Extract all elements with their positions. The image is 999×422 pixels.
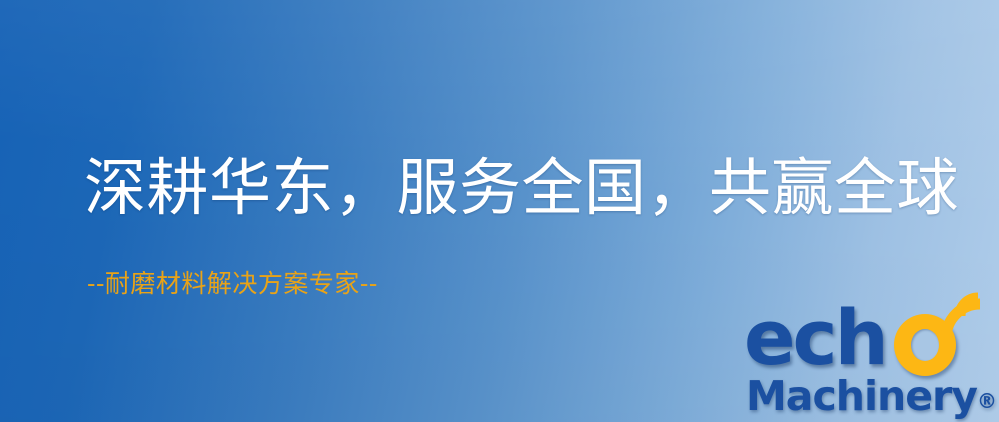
banner-headline: 深耕华东，服务全国，共赢全球 (84, 152, 959, 224)
signal-waves-icon (932, 292, 999, 356)
banner-subtitle: --耐磨材料解决方案专家-- (87, 268, 378, 300)
echo-machinery-logo[interactable]: ech Machinery® (744, 298, 994, 418)
logo-text-ech: ech (744, 300, 886, 376)
logo-machinery-word: Machinery (746, 372, 977, 420)
logo-text-machinery: Machinery® (746, 374, 997, 422)
registered-trademark-icon: ® (977, 389, 997, 413)
logo-wordmark: ech (744, 298, 994, 372)
promotional-banner: 深耕华东，服务全国，共赢全球 --耐磨材料解决方案专家-- ech Machin… (0, 0, 999, 422)
